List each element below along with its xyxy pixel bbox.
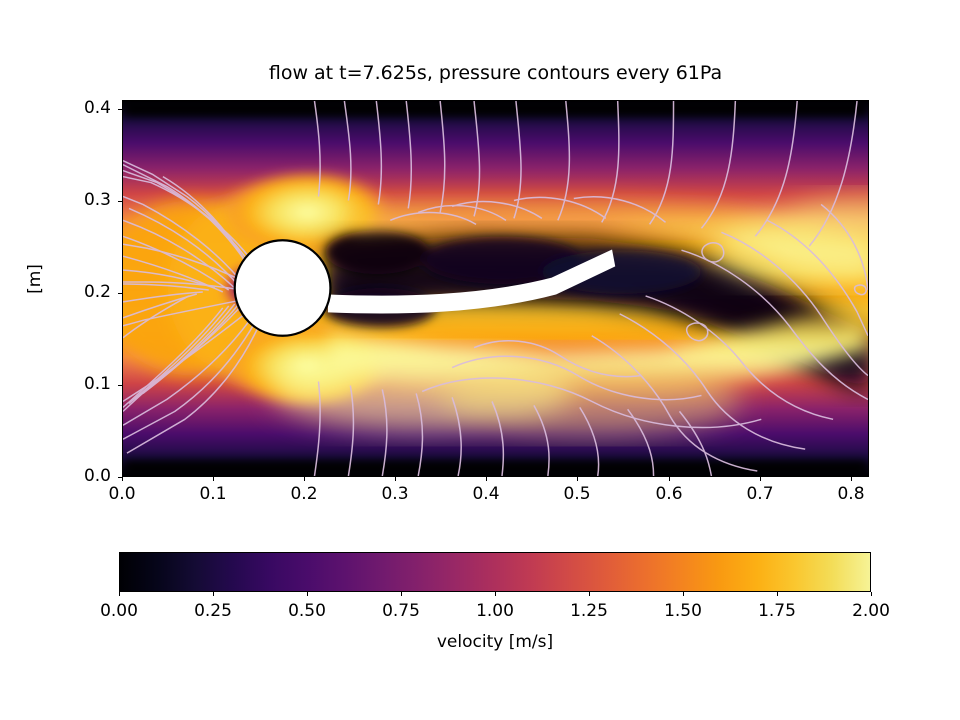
colorbar [119, 552, 871, 592]
velocity-magnitude-field [123, 101, 868, 476]
colorbar-tick [683, 592, 684, 596]
x-tick-label: 0.8 [816, 484, 886, 504]
colorbar-tick-label: 1.50 [643, 601, 723, 621]
colorbar-tick [307, 592, 308, 596]
x-tick [213, 477, 214, 481]
colorbar-tick [777, 592, 778, 596]
colorbar-tick [589, 592, 590, 596]
colorbar-tick-label: 1.25 [549, 601, 629, 621]
colorbar-tick-label: 0.50 [267, 601, 347, 621]
cylinder-obstacle [235, 240, 331, 335]
y-tick [118, 201, 122, 202]
y-tick-label: 0.2 [41, 282, 111, 302]
y-tick-label: 0.0 [41, 466, 111, 486]
colorbar-tick [119, 592, 120, 596]
x-tick-label: 0.1 [178, 484, 248, 504]
y-tick [118, 293, 122, 294]
colorbar-label: velocity [m/s] [119, 632, 871, 652]
y-axis-label: [m] [25, 239, 45, 319]
x-tick-label: 0.3 [360, 484, 430, 504]
y-tick-label: 0.1 [41, 374, 111, 394]
colorbar-tick-label: 1.00 [455, 601, 535, 621]
colorbar-tick-label: 0.25 [173, 601, 253, 621]
colorbar-tick-label: 0.00 [79, 601, 159, 621]
colorbar-tick-label: 2.00 [831, 601, 911, 621]
matplotlib-figure: flow at t=7.625s, pressure contours ever… [0, 0, 960, 720]
y-tick-label: 0.3 [41, 190, 111, 210]
x-tick-label: 0.2 [269, 484, 339, 504]
x-tick [486, 477, 487, 481]
y-tick [118, 385, 122, 386]
x-tick [395, 477, 396, 481]
x-tick [577, 477, 578, 481]
x-tick [851, 477, 852, 481]
y-tick-label: 0.4 [41, 98, 111, 118]
colorbar-tick [213, 592, 214, 596]
x-tick [304, 477, 305, 481]
colorbar-tick-label: 1.75 [737, 601, 817, 621]
flow-field-axes [122, 100, 869, 477]
x-tick [669, 477, 670, 481]
y-tick [118, 477, 122, 478]
x-tick [760, 477, 761, 481]
x-tick-label: 0.7 [725, 484, 795, 504]
x-tick-label: 0.6 [634, 484, 704, 504]
colorbar-tick [871, 592, 872, 596]
y-tick [118, 109, 122, 110]
colorbar-tick-label: 0.75 [361, 601, 441, 621]
colorbar-tick [495, 592, 496, 596]
colorbar-tick [401, 592, 402, 596]
plot-title: flow at t=7.625s, pressure contours ever… [122, 62, 869, 84]
x-tick-label: 0.4 [451, 484, 521, 504]
x-tick-label: 0.5 [542, 484, 612, 504]
x-tick-label: 0.0 [87, 484, 157, 504]
x-tick [122, 477, 123, 481]
